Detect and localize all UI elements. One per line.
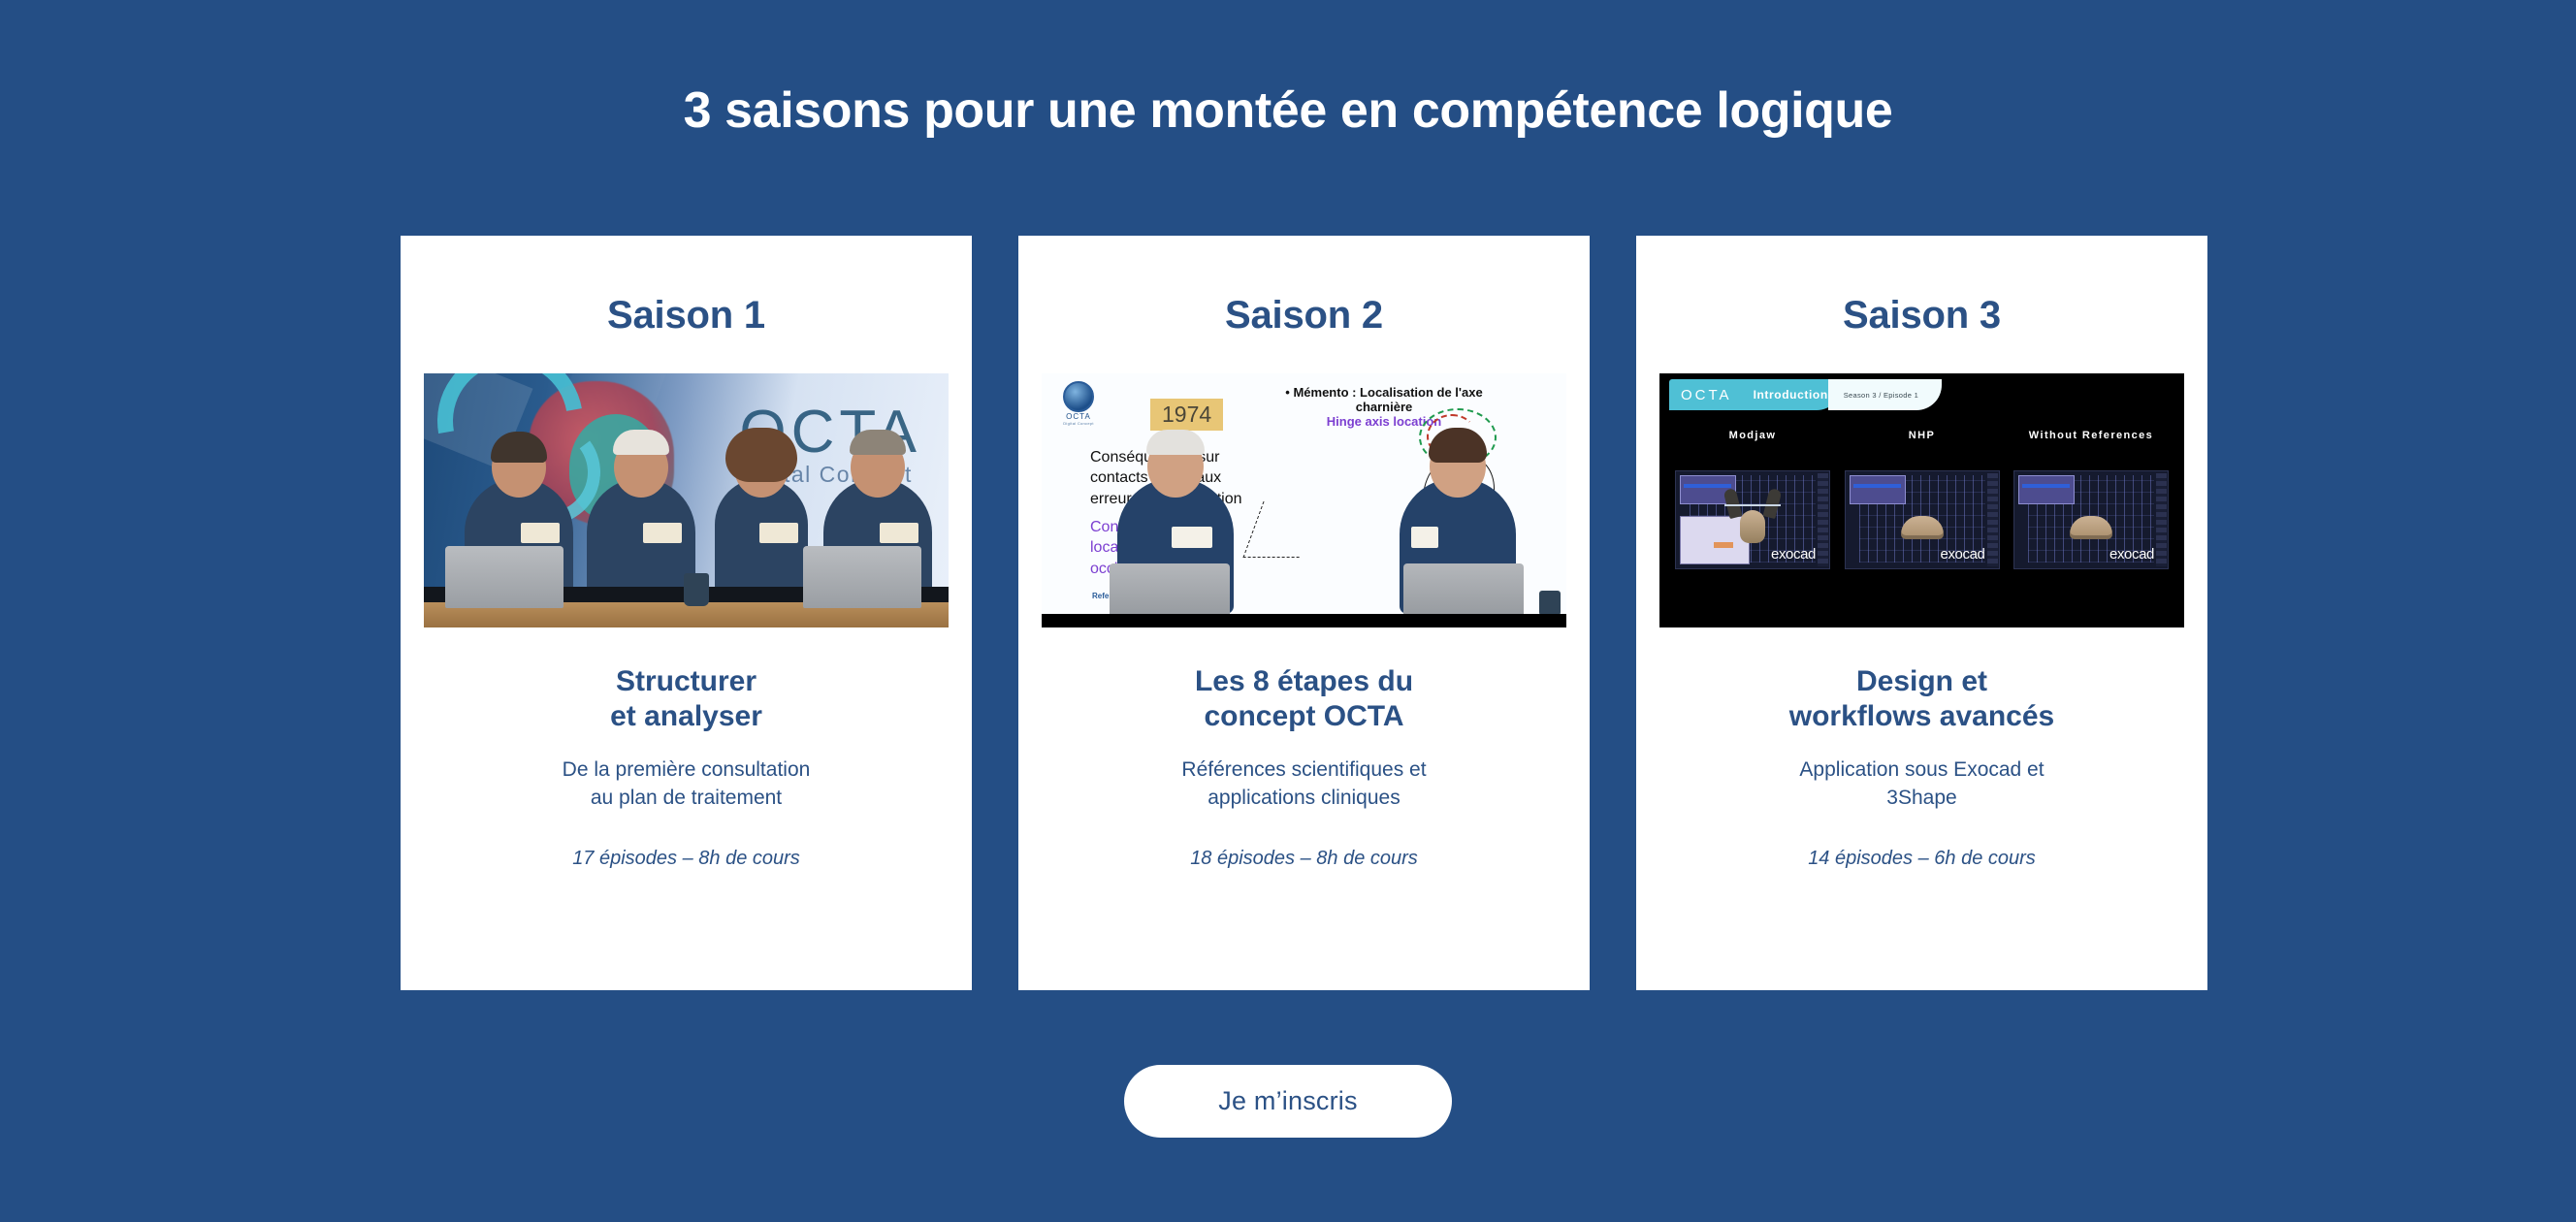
card-title: Les 8 étapes du concept OCTA bbox=[1195, 664, 1413, 734]
card-title: Design et workflows avancés bbox=[1789, 664, 2054, 734]
device-wing bbox=[1763, 488, 1783, 519]
comparison-columns: Modjaw exocad bbox=[1675, 430, 2169, 569]
toolbar-strip bbox=[2156, 473, 2167, 566]
exocad-watermark: exocad bbox=[2109, 546, 2154, 563]
device-bar bbox=[1724, 504, 1781, 506]
season-cards-row: Saison 1 OCTA Digital Concept bbox=[401, 236, 2208, 990]
season-card-3[interactable]: Saison 3 OCTA Introduction Season 3 / Ep… bbox=[1636, 236, 2207, 990]
laptop-icon bbox=[1403, 563, 1524, 620]
globe-icon bbox=[1063, 381, 1094, 412]
season-label: Saison 1 bbox=[607, 296, 765, 335]
slide-section-label: Introduction bbox=[1754, 388, 1828, 402]
card-subtitle: Application sous Exocad et 3Shape bbox=[1799, 756, 2044, 813]
season-thumbnail-3: OCTA Introduction Season 3 / Episode 1 M… bbox=[1659, 373, 2184, 627]
octa-logo-tagline: Digital Concept bbox=[1059, 421, 1098, 426]
name-badge bbox=[759, 523, 798, 543]
season-label: Saison 2 bbox=[1225, 296, 1383, 335]
modjaw-device-model bbox=[1724, 493, 1781, 547]
card-subtitle: Références scientifiques et applications… bbox=[1181, 756, 1426, 813]
dental-arch-model bbox=[1740, 510, 1765, 543]
season-thumbnail-1: OCTA Digital Concept bbox=[424, 373, 949, 627]
saisons-section: 3 saisons pour une montée en compétence … bbox=[0, 0, 2576, 1222]
octa-logo-word: OCTA bbox=[1681, 387, 1732, 403]
card-meta: 18 épisodes – 8h de cours bbox=[1190, 848, 1418, 870]
slide-episode-label: Season 3 / Episode 1 bbox=[1828, 379, 1942, 410]
comparison-column-label: Without References bbox=[2013, 430, 2169, 457]
comparison-column: NHP exocad bbox=[1845, 430, 2000, 569]
slide-header: OCTA Introduction Season 3 / Episode 1 bbox=[1669, 379, 1942, 410]
cup-icon bbox=[684, 573, 709, 606]
toolbar-strip bbox=[1987, 473, 1998, 566]
card-meta: 14 épisodes – 6h de cours bbox=[1808, 848, 2036, 870]
decor-dark-strip bbox=[1042, 614, 1566, 627]
cta-container: Je m’inscris bbox=[0, 1065, 2576, 1138]
exocad-watermark: exocad bbox=[1941, 546, 1985, 563]
tool-dialog bbox=[1850, 475, 1906, 504]
season-card-2[interactable]: Saison 2 OCTA Digital Concept 1974 Consé… bbox=[1018, 236, 1590, 990]
octa-logo: OCTA Digital Concept bbox=[1059, 381, 1098, 426]
exocad-panel: exocad bbox=[2013, 470, 2169, 569]
exocad-panel: exocad bbox=[1675, 470, 1830, 569]
season-label: Saison 3 bbox=[1843, 296, 2001, 335]
laptop-icon bbox=[445, 546, 563, 608]
name-badge bbox=[521, 523, 560, 543]
card-title: Structurer et analyser bbox=[610, 664, 762, 734]
card-meta: 17 épisodes – 8h de cours bbox=[572, 848, 800, 870]
exocad-panel: exocad bbox=[1845, 470, 2000, 569]
octa-logo-word: OCTA bbox=[1059, 412, 1098, 421]
tool-dialog bbox=[2018, 475, 2075, 504]
slide-header-brand-tab: OCTA Introduction bbox=[1669, 379, 1842, 410]
comparison-column-label: Modjaw bbox=[1675, 430, 1830, 457]
name-badge bbox=[880, 523, 918, 543]
signup-button[interactable]: Je m’inscris bbox=[1124, 1065, 1452, 1138]
toolbar-strip bbox=[1818, 473, 1828, 566]
comparison-column: Modjaw exocad bbox=[1675, 430, 1830, 569]
comparison-column-label: NHP bbox=[1845, 430, 2000, 457]
name-badge bbox=[1172, 527, 1212, 548]
exocad-watermark: exocad bbox=[1771, 546, 1816, 563]
dental-arch-model bbox=[1901, 516, 1944, 539]
season-card-1[interactable]: Saison 1 OCTA Digital Concept bbox=[401, 236, 972, 990]
comparison-column: Without References exocad bbox=[2013, 430, 2169, 569]
card-subtitle: De la première consultation au plan de t… bbox=[563, 756, 811, 813]
device-wing bbox=[1723, 488, 1743, 519]
laptop-icon bbox=[803, 546, 921, 608]
slide-year-badge: 1974 bbox=[1150, 399, 1223, 431]
dental-arch-model bbox=[2070, 516, 2112, 539]
page-title: 3 saisons pour une montée en compétence … bbox=[0, 82, 2576, 141]
name-badge bbox=[643, 523, 682, 543]
laptop-icon bbox=[1110, 563, 1230, 620]
name-badge bbox=[1411, 527, 1438, 548]
season-thumbnail-2: OCTA Digital Concept 1974 Conséquences s… bbox=[1042, 373, 1566, 627]
